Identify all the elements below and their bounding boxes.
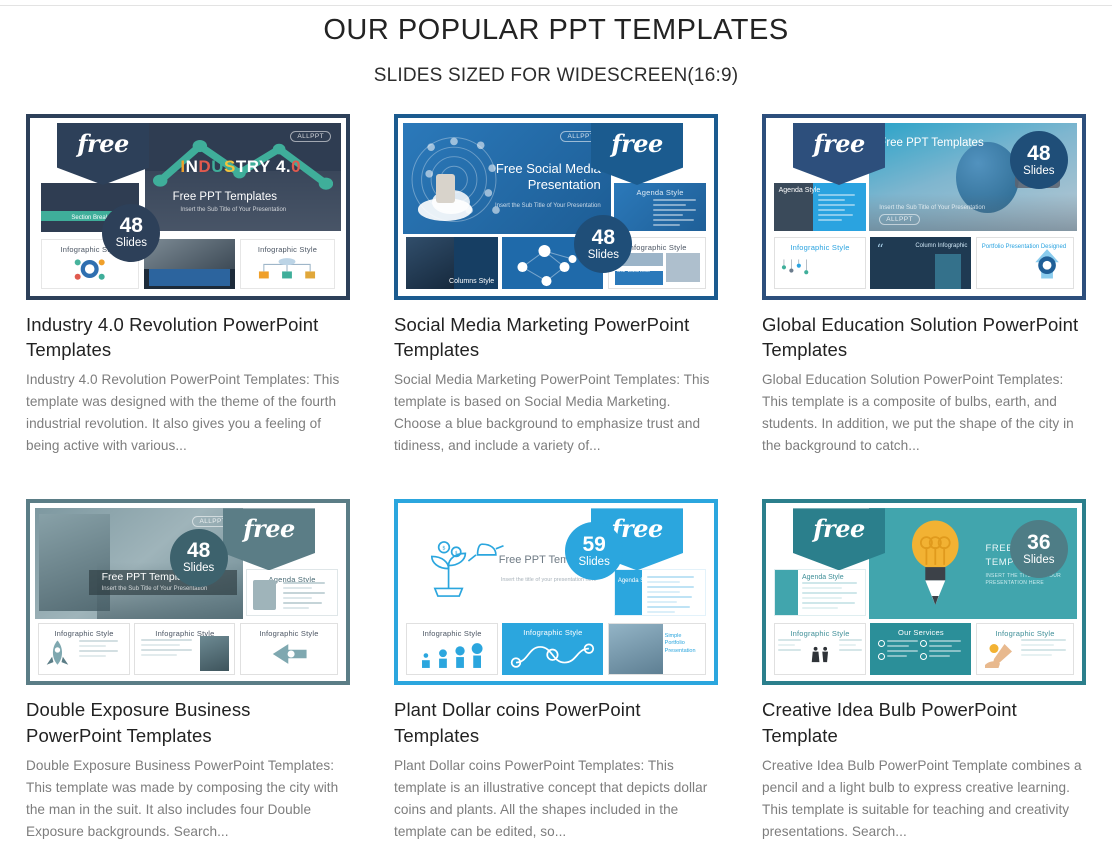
- donut-chart-icon: [1025, 242, 1069, 284]
- card-title[interactable]: Global Education Solution PowerPoint Tem…: [762, 312, 1086, 362]
- brand-watermark: ALLPPT: [290, 131, 331, 142]
- brand-watermark: ALLPPT: [879, 214, 920, 225]
- slides-label: Slides: [579, 557, 610, 569]
- agenda-label: Agenda Style: [802, 574, 844, 581]
- growing-plants-icon: [412, 640, 491, 671]
- city-skyline: [869, 194, 1077, 231]
- mini-panel-3: Infographic Style: [240, 623, 338, 675]
- mini-panel-3: Infographic Style: [976, 623, 1074, 675]
- arrow-infographic-icon: [270, 637, 312, 671]
- template-card-industry-40[interactable]: INDUSTRY 4.0 Free PPT Templates Insert t…: [26, 114, 350, 457]
- slides-count: 48: [1027, 143, 1050, 164]
- hero-title: Free PPT Templates: [173, 190, 277, 204]
- free-ribbon-label: free: [243, 517, 295, 541]
- slides-label: Slides: [1023, 555, 1054, 567]
- agenda-label: Agenda Style: [614, 188, 706, 197]
- card-title[interactable]: Plant Dollar coins PowerPoint Templates: [394, 697, 718, 747]
- svg-text:$: $: [443, 546, 446, 552]
- slides-count: 48: [592, 227, 615, 248]
- mini-panel-3: Simple Portfolio Presentation: [608, 623, 706, 675]
- slides-count: 48: [187, 540, 210, 561]
- mini-panel-3: Portfolio Presentation Designed: [976, 237, 1074, 289]
- template-thumbnail[interactable]: INDUSTRY 4.0 Free PPT Templates Insert t…: [26, 114, 350, 300]
- mini-panel-3-label: Infographic Style: [241, 245, 334, 254]
- card-description: Double Exposure Business PowerPoint Temp…: [26, 755, 350, 843]
- slides-count-badge: 48 Slides: [102, 204, 160, 262]
- hero-subtitle: Insert the Sub Title of Your Presentatio…: [102, 586, 208, 592]
- mini-panel-1-label: Columns Style: [449, 278, 494, 285]
- free-ribbon-label: free: [611, 132, 663, 156]
- mini-panel-1: Infographic Style: [774, 237, 866, 289]
- quote-icon: “: [876, 242, 883, 258]
- card-title[interactable]: Creative Idea Bulb PowerPoint Template: [762, 697, 1086, 747]
- slides-label: Slides: [1023, 166, 1054, 178]
- template-thumbnail[interactable]: FREE PPT TEMPLATES INSERT THE TITLE OF Y…: [762, 499, 1086, 685]
- agenda-slide: Agenda Style: [774, 183, 866, 230]
- template-card-double-exposure[interactable]: Free PPT Templates Insert the Sub Title …: [26, 499, 350, 842]
- card-title[interactable]: Industry 4.0 Revolution PowerPoint Templ…: [26, 312, 350, 362]
- template-card-social-media[interactable]: Free Social Media Presentation Insert th…: [394, 114, 718, 457]
- hero-title: Free Social Media Presentation: [493, 161, 601, 194]
- winding-path-icon: [507, 640, 598, 671]
- mini-panel-1: Infographic Style: [774, 623, 866, 675]
- slides-label: Slides: [183, 563, 214, 575]
- slides-count: 36: [1027, 532, 1050, 553]
- mini-panel-2: Infographic Style: [502, 623, 603, 675]
- top-divider: [0, 5, 1112, 6]
- slides-count-badge: 36 Slides: [1010, 520, 1068, 578]
- hero-slide: INDUSTRY 4.0 Free PPT Templates Insert t…: [145, 123, 341, 231]
- free-ribbon-label: free: [813, 517, 865, 541]
- gear-infographic-icon: [59, 254, 120, 284]
- card-description: Industry 4.0 Revolution PowerPoint Templ…: [26, 369, 350, 457]
- mini-panel-2: Column Infographic “: [870, 237, 971, 289]
- mini-panel-2: Our Services: [870, 623, 971, 675]
- template-thumbnail[interactable]: Free Social Media Presentation Insert th…: [394, 114, 718, 300]
- mini-panel-2: Infographic Style: [134, 623, 235, 675]
- hand-pencil-icon: [982, 637, 1017, 672]
- slides-count-badge: 48 Slides: [1010, 131, 1068, 189]
- slides-count: 59: [582, 534, 605, 555]
- agenda-slide: Agenda Style: [614, 569, 706, 616]
- people-silhouette-icon: [806, 637, 835, 672]
- template-card-global-education[interactable]: Free PPT Templates Insert the Sub Title …: [762, 114, 1086, 457]
- hero-subtitle: Insert the Sub Title of Your Presentatio…: [879, 205, 985, 211]
- card-description: Social Media Marketing PowerPoint Templa…: [394, 369, 718, 457]
- mini-panel-3-label: Simple Portfolio Presentation: [665, 633, 701, 656]
- slides-count-badge: 59 Slides: [565, 522, 623, 580]
- template-card-creative-idea-bulb[interactable]: FREE PPT TEMPLATES INSERT THE TITLE OF Y…: [762, 499, 1086, 842]
- free-ribbon-label: free: [77, 132, 129, 156]
- agenda-slide: Agenda Style: [774, 569, 866, 616]
- free-ribbon-label: free: [813, 132, 865, 156]
- template-card-plant-dollar[interactable]: $ $ Free PPT Templates Insert the title …: [394, 499, 718, 842]
- page-subtitle: SLIDES SIZED FOR WIDESCREEN(16:9): [0, 64, 1112, 88]
- card-title[interactable]: Double Exposure Business PowerPoint Temp…: [26, 697, 350, 747]
- agenda-label: Agenda Style: [779, 187, 821, 194]
- template-thumbnail[interactable]: Free PPT Templates Insert the Sub Title …: [26, 499, 350, 685]
- plant-coins-icon: $ $: [415, 519, 507, 612]
- mini-panel-2: [144, 239, 236, 289]
- hero-subtitle: Insert the Sub Title of Your Presentatio…: [180, 207, 286, 213]
- card-description: Creative Idea Bulb PowerPoint Template c…: [762, 755, 1086, 843]
- hero-subtitle: Insert the Sub Title of Your Presentatio…: [493, 203, 601, 209]
- free-ribbon: free: [57, 123, 149, 185]
- card-title[interactable]: Social Media Marketing PowerPoint Templa…: [394, 312, 718, 362]
- slides-label: Slides: [588, 250, 619, 262]
- slides-count: 48: [120, 215, 143, 236]
- mini-panel-1: Infographic Style: [38, 623, 130, 675]
- slides-count-badge: 48 Slides: [170, 529, 228, 587]
- mini-panel-2-label: Our Services: [870, 628, 971, 637]
- hero-title: Free PPT Templates: [879, 136, 983, 150]
- industry-headline: INDUSTRY 4.0: [180, 157, 301, 177]
- page-header: OUR POPULAR PPT TEMPLATES SLIDES SIZED F…: [0, 0, 1112, 88]
- hero-slide: Free Social Media Presentation Insert th…: [403, 123, 611, 234]
- person-silhouette: [436, 174, 455, 203]
- mini-panel-1: Infographic Style: [406, 623, 498, 675]
- template-grid: INDUSTRY 4.0 Free PPT Templates Insert t…: [26, 114, 1086, 843]
- svg-text:$: $: [455, 551, 458, 557]
- mini-panel-2-label: Infographic Style: [502, 628, 603, 637]
- network-diagram-icon: [248, 256, 326, 284]
- mini-panel-1-label: Infographic Style: [775, 243, 865, 252]
- rocket-icon: [44, 637, 71, 671]
- mini-panel-3: Infographic Style: [240, 239, 335, 289]
- mini-panel-1-label: Infographic Style: [407, 629, 497, 638]
- mini-panel-1: Columns Style: [406, 237, 498, 289]
- our-business-label: Our Business: [615, 268, 650, 274]
- card-description: Plant Dollar coins PowerPoint Templates:…: [394, 755, 718, 843]
- slides-label: Slides: [116, 238, 147, 250]
- bulb-pencil-icon: [902, 515, 969, 615]
- hanging-bulbs-icon: [779, 252, 820, 285]
- mini-panel-2-label: Column Infographic: [915, 243, 967, 249]
- page-title: OUR POPULAR PPT TEMPLATES: [0, 12, 1112, 48]
- card-description: Global Education Solution PowerPoint Tem…: [762, 369, 1086, 457]
- template-thumbnail[interactable]: Free PPT Templates Insert the Sub Title …: [762, 114, 1086, 300]
- template-thumbnail[interactable]: $ $ Free PPT Templates Insert the title …: [394, 499, 718, 685]
- agenda-slide: Agenda Style: [246, 569, 338, 616]
- agenda-slide: Agenda Style: [614, 183, 706, 230]
